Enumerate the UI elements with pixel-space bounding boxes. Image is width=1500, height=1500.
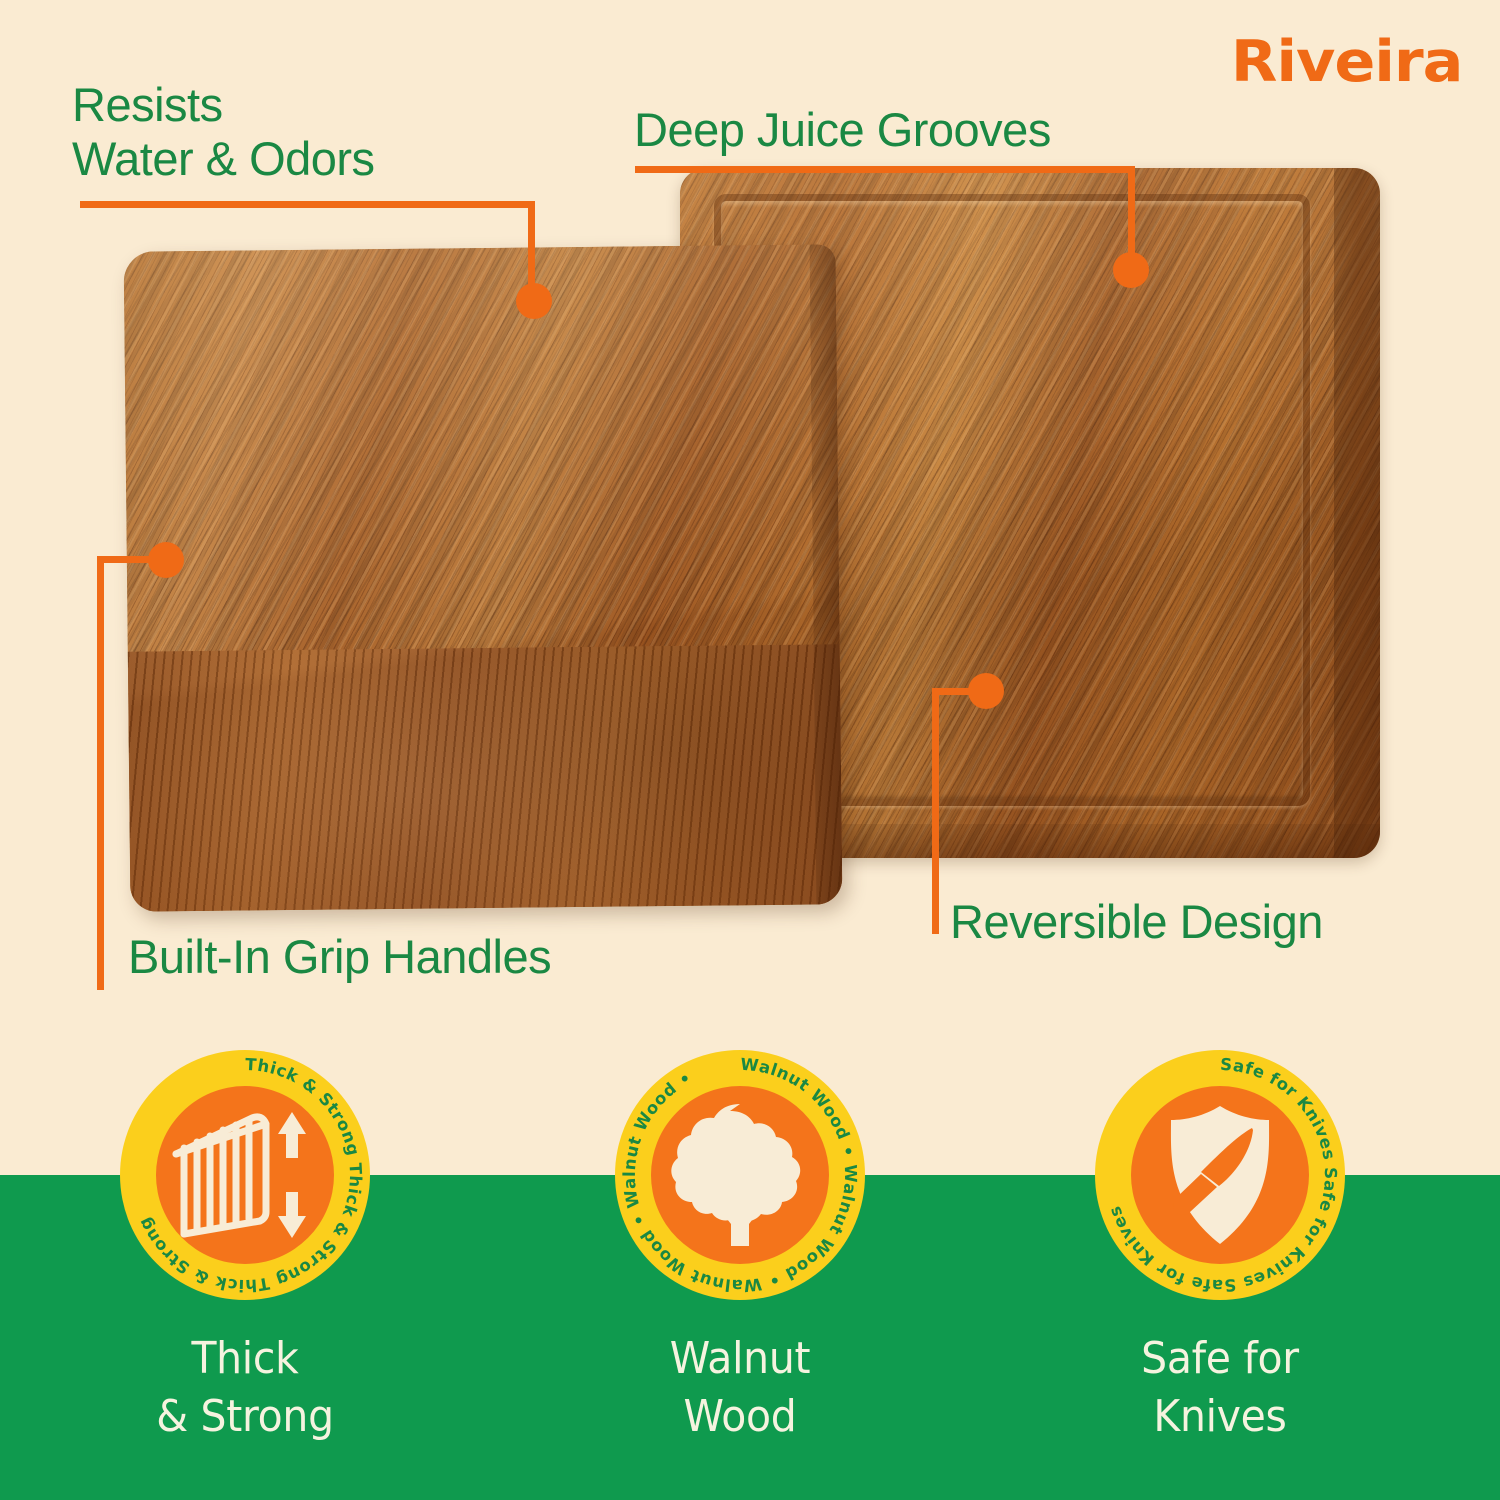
callout-label-built-in-grip-handles: Built-In Grip Handles	[128, 930, 551, 984]
front-board-flat-side	[124, 244, 843, 911]
callout-dot-resists-water-odors	[516, 283, 552, 319]
product-photo: Resists Water & Odors Deep Juice Grooves…	[0, 0, 1500, 1030]
callout-dot-built-in-grip-handles	[148, 542, 184, 578]
callout-label-deep-juice-grooves: Deep Juice Grooves	[634, 103, 1051, 157]
badge-label-safe-for-knives: Safe for Knives	[1062, 1330, 1378, 1446]
badge-label-walnut-wood: Walnut Wood	[582, 1330, 898, 1446]
badge-label-thick-and-strong: Thick & Strong	[87, 1330, 403, 1446]
callout-label-resists-water-odors: Resists Water & Odors	[72, 78, 375, 185]
shield-knife-icon	[1131, 1086, 1309, 1264]
badge-walnut-wood: Walnut Wood • Walnut Wood • Walnut Wood …	[615, 1050, 865, 1300]
board-right-edge	[1334, 168, 1380, 858]
badge-thick-and-strong: Thick & Strong Thick & Strong Thick & St…	[120, 1050, 370, 1300]
thick-board-arrows-icon	[156, 1086, 334, 1264]
wood-tone-overlay	[124, 244, 843, 911]
tree-icon	[651, 1086, 829, 1264]
badge-safe-for-knives: Safe for Knives Safe for Knives Safe for…	[1095, 1050, 1345, 1300]
callout-dot-reversible-design	[968, 673, 1004, 709]
feature-badges: Thick & Strong Thick & Strong Thick & St…	[0, 1030, 1500, 1500]
callout-label-reversible-design: Reversible Design	[950, 895, 1323, 949]
infographic-canvas: Riveira Resists Water & Odors	[0, 0, 1500, 1500]
callout-dot-deep-juice-grooves	[1113, 252, 1149, 288]
